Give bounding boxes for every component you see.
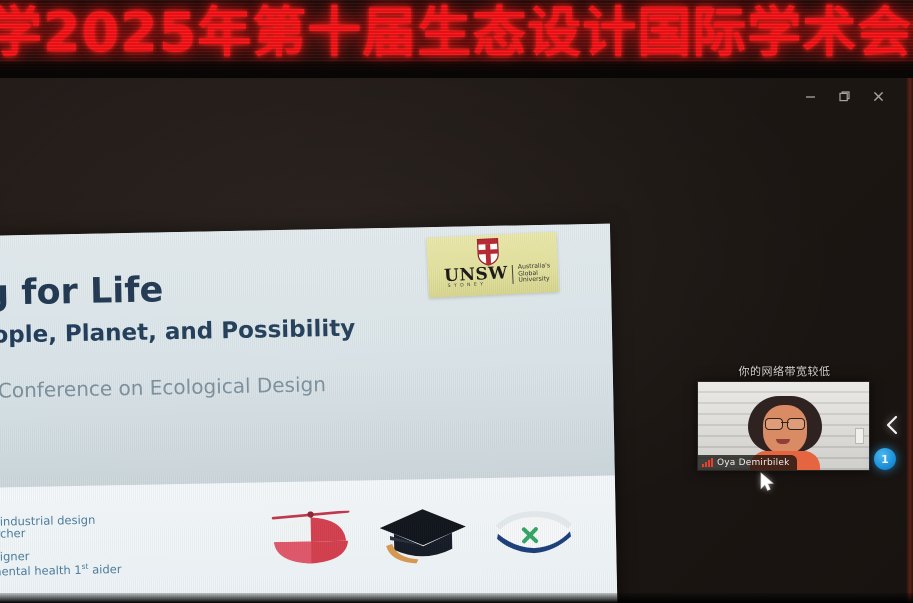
unsw-logo: UNSW SYDNEY Australia's Global Universit… bbox=[426, 232, 559, 298]
participant-video-tile[interactable]: Oya Demirbilek bbox=[697, 381, 870, 471]
mouse-pointer-icon bbox=[760, 472, 776, 494]
bio-ordinal-prefix: ited mental health 1 bbox=[0, 563, 82, 579]
unsw-divider bbox=[512, 265, 514, 284]
signal-bars-icon bbox=[702, 458, 713, 467]
propeller-beanie-hat-icon bbox=[267, 511, 354, 575]
slide-bio-list: sor of industrial design researcher or r… bbox=[0, 511, 265, 579]
graduation-cap-icon bbox=[375, 504, 470, 572]
nurse-cap-icon bbox=[489, 506, 578, 566]
restore-window-button[interactable] bbox=[827, 86, 861, 106]
participant-name-badge: Oya Demirbilek bbox=[698, 455, 797, 470]
minimize-button[interactable] bbox=[793, 86, 827, 106]
presentation-slide: ng for Life People, Planet, and Possibil… bbox=[0, 224, 618, 603]
unsw-shield-icon bbox=[476, 238, 499, 267]
notification-badge-count: 1 bbox=[881, 454, 889, 465]
unsw-wordmark-sub: SYDNEY bbox=[448, 282, 487, 289]
unsw-tagline: Australia's Global University bbox=[518, 263, 551, 284]
avatar-glasses-icon bbox=[765, 418, 805, 428]
close-button[interactable] bbox=[861, 86, 895, 106]
participant-name: Oya Demirbilek bbox=[717, 458, 789, 468]
slide-hat-icons bbox=[267, 500, 588, 578]
avatar-face bbox=[763, 405, 807, 455]
unsw-tagline-line: University bbox=[518, 276, 551, 284]
notification-badge[interactable]: 1 bbox=[874, 448, 896, 470]
screen-bottom-edge bbox=[0, 593, 913, 603]
window-controls bbox=[793, 86, 895, 106]
bio-ordinal-tail: aider bbox=[88, 562, 121, 577]
screenshot-root: 学2025年第十届生态设计国际学术会议 ng for Life People, … bbox=[0, 0, 913, 603]
screen-right-edge bbox=[906, 78, 913, 603]
background-object bbox=[855, 428, 864, 444]
meeting-window-canvas: ng for Life People, Planet, and Possibil… bbox=[0, 78, 913, 603]
led-banner-text: 学2025年第十届生态设计国际学术会议 bbox=[0, 2, 913, 64]
collapse-panel-chevron-left-icon[interactable] bbox=[881, 413, 903, 437]
network-bandwidth-warning: 你的网络带宽较低 bbox=[697, 363, 872, 379]
